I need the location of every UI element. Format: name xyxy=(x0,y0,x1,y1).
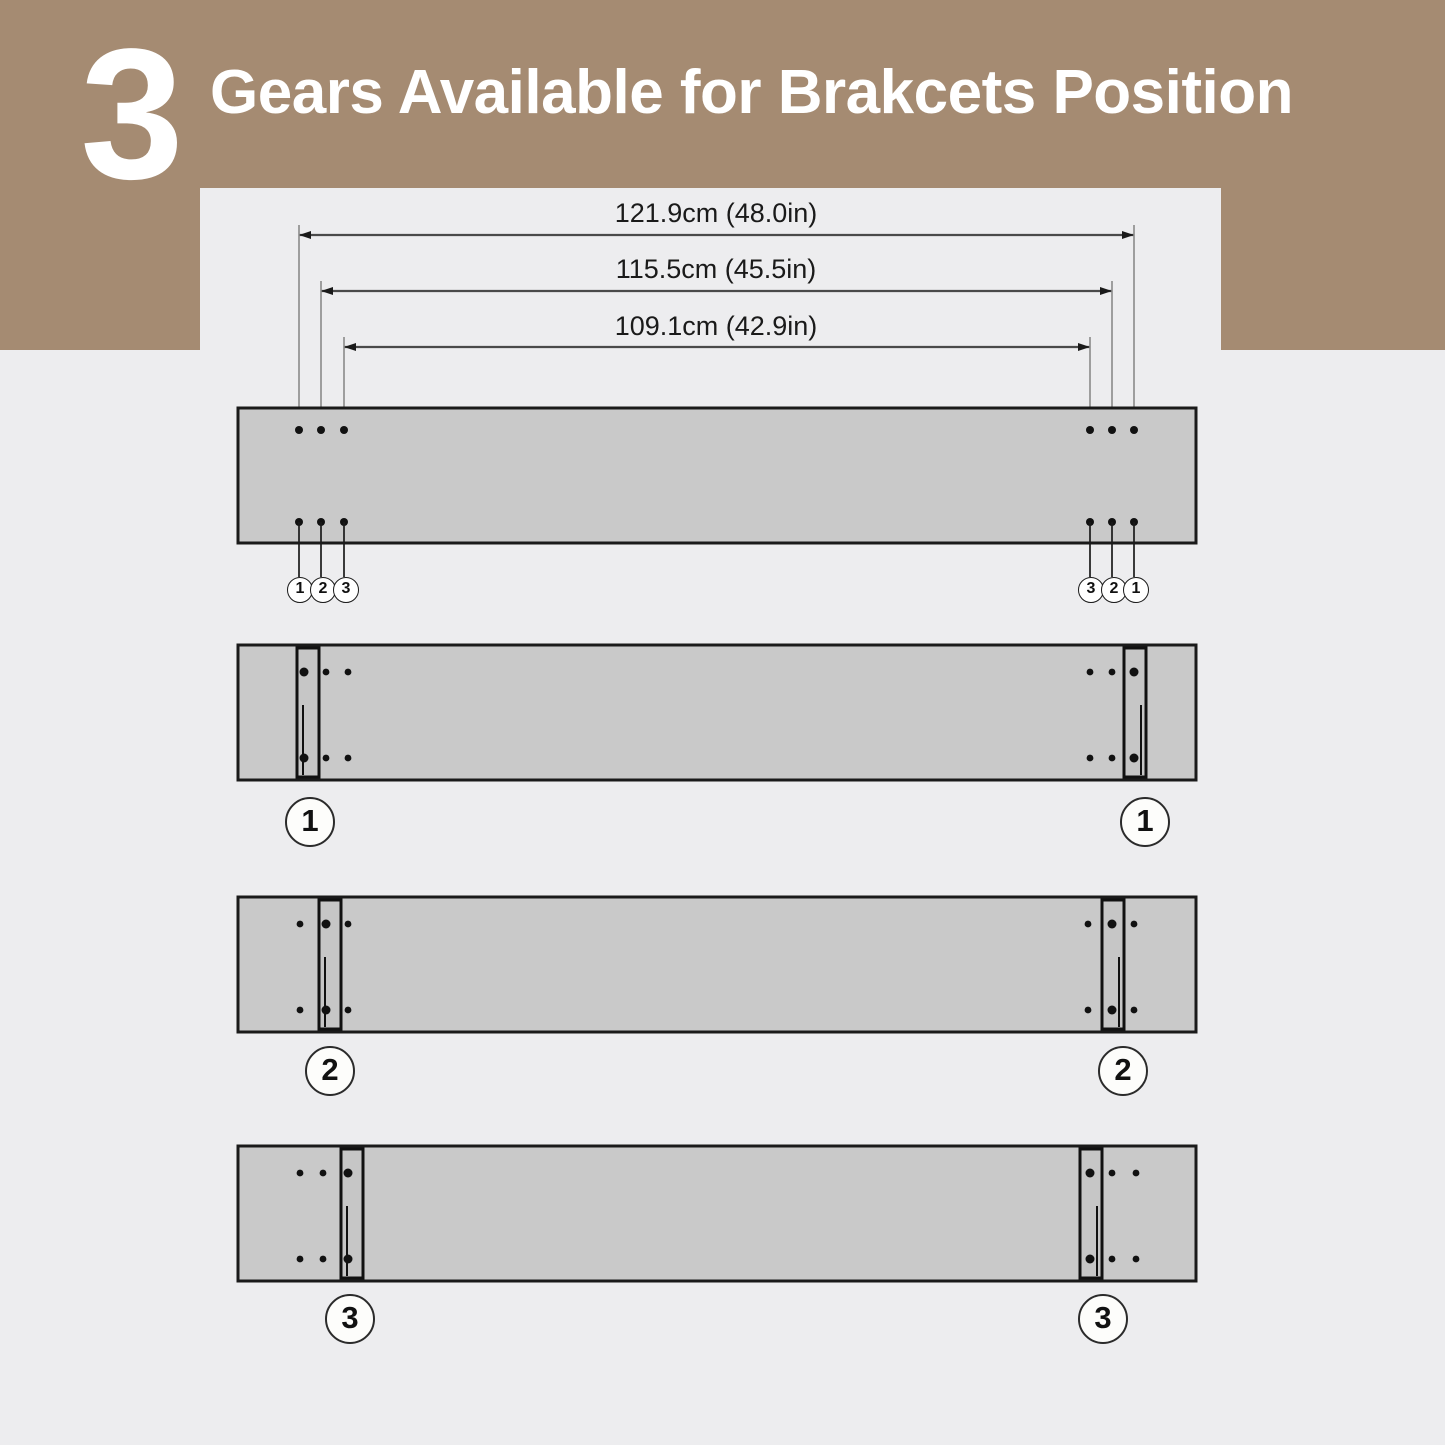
bracket-screw-left-bottom-3 xyxy=(344,1255,353,1264)
bracket-screw-left-bottom-2 xyxy=(322,1006,331,1015)
bracket-screw-right-top-3 xyxy=(1086,1169,1095,1178)
hole-right-open-2f xyxy=(1109,1256,1116,1263)
panel-gear-3 xyxy=(238,1146,1196,1281)
hole-right-open-3 xyxy=(1087,669,1094,676)
board-gear-3 xyxy=(238,1146,1196,1281)
board-overview xyxy=(238,408,1196,543)
hole-left-open-2c xyxy=(320,1170,327,1177)
hole-left-open-1 xyxy=(297,921,304,928)
hole-top-left-1 xyxy=(295,426,303,434)
hole-right-open-3c xyxy=(1085,921,1092,928)
hole-right-open-2e xyxy=(1109,1170,1116,1177)
hole-left-open-3b xyxy=(345,755,352,762)
hole-left-open-2b xyxy=(323,755,330,762)
gear-badge-right-2: 2 xyxy=(1098,1046,1148,1096)
bracket-screw-right-bottom-1 xyxy=(1130,754,1139,763)
hole-top-left-2 xyxy=(317,426,325,434)
hole-left-open-3d xyxy=(345,1007,352,1014)
bracket-screw-left-bottom-1 xyxy=(300,754,309,763)
bracket-screw-left-top-2 xyxy=(322,920,331,929)
hole-right-open-1f xyxy=(1133,1256,1140,1263)
panel-gear-2 xyxy=(238,897,1196,1032)
gear-badge-left-3: 3 xyxy=(325,1294,375,1344)
marker-left-3: 3 xyxy=(333,577,359,603)
dimension-label-3: 109.1cm (42.9in) xyxy=(566,311,866,341)
board-gear-2 xyxy=(238,897,1196,1032)
gear-badge-right-1: 1 xyxy=(1120,797,1170,847)
bracket-screw-right-bottom-2 xyxy=(1108,1006,1117,1015)
hole-right-open-2 xyxy=(1109,669,1116,676)
hole-top-right-3 xyxy=(1086,426,1094,434)
bracket-screw-right-bottom-3 xyxy=(1086,1255,1095,1264)
hole-left-open-2 xyxy=(323,669,330,676)
board-gear-1 xyxy=(238,645,1196,780)
gear-badge-right-3: 3 xyxy=(1078,1294,1128,1344)
bracket-screw-right-top-1 xyxy=(1130,668,1139,677)
gear-badge-left-2: 2 xyxy=(305,1046,355,1096)
panel-overview xyxy=(238,408,1196,577)
hole-right-open-1b xyxy=(1131,1007,1138,1014)
hole-right-open-1 xyxy=(1131,921,1138,928)
hole-top-right-1 xyxy=(1130,426,1138,434)
hole-right-open-3b xyxy=(1087,755,1094,762)
hole-top-right-2 xyxy=(1108,426,1116,434)
hole-top-left-3 xyxy=(340,426,348,434)
gear-badge-left-1: 1 xyxy=(285,797,335,847)
hole-right-open-3d xyxy=(1085,1007,1092,1014)
infographic-root: 3 Gears Available for Brakcets Position xyxy=(0,0,1445,1445)
hole-left-open-1b xyxy=(297,1007,304,1014)
hole-right-open-1e xyxy=(1133,1170,1140,1177)
bracket-screw-left-top-3 xyxy=(344,1169,353,1178)
hole-left-open-3c xyxy=(345,921,352,928)
hole-left-open-1c xyxy=(297,1170,304,1177)
marker-right-1: 1 xyxy=(1123,577,1149,603)
bracket-screw-left-top-1 xyxy=(300,668,309,677)
dimension-label-1: 121.9cm (48.0in) xyxy=(566,198,866,228)
hole-left-open-3 xyxy=(345,669,352,676)
dimension-label-2: 115.5cm (45.5in) xyxy=(566,254,866,284)
hole-left-open-2d xyxy=(320,1256,327,1263)
bracket-screw-right-top-2 xyxy=(1108,920,1117,929)
panel-gear-1 xyxy=(238,645,1196,780)
hole-right-open-2b xyxy=(1109,755,1116,762)
hole-left-open-1d xyxy=(297,1256,304,1263)
